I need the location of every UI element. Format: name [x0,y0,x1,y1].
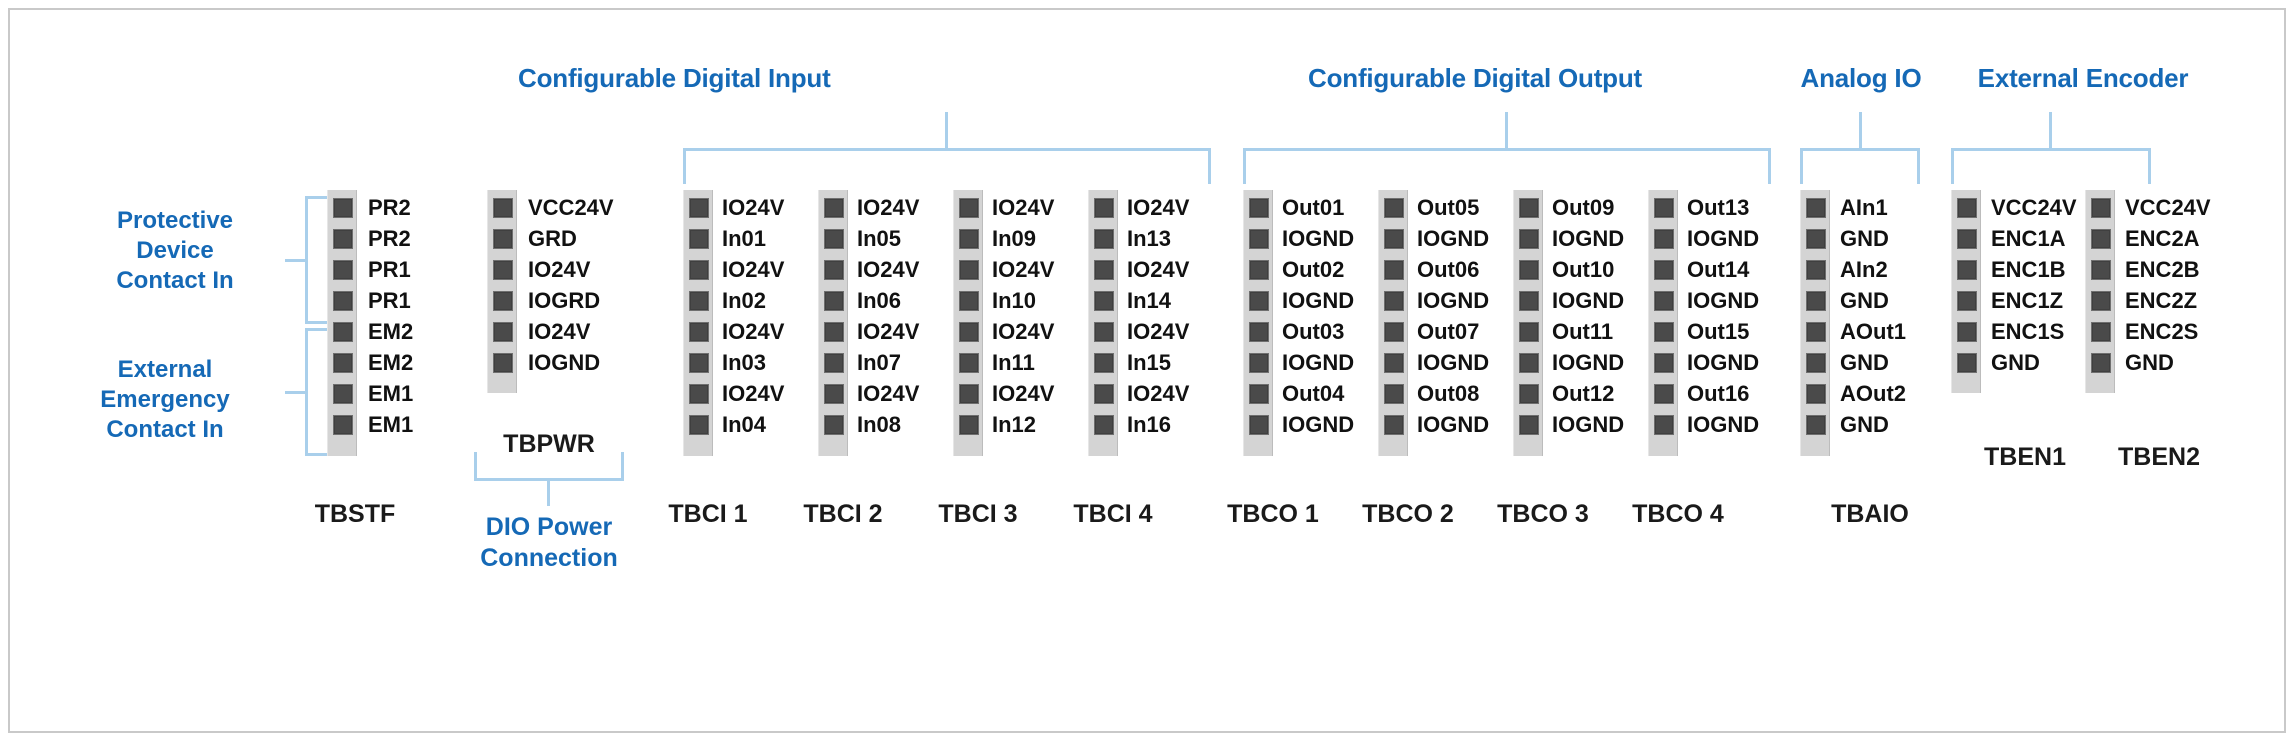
connector-name-TBAIO: TBAIO [1775,500,1965,529]
pinlabels-TBEN1: VCC24V ENC1A ENC1B ENC1Z ENC1S GND [1991,192,2077,378]
pad-square-icon [333,260,353,280]
pin[interactable] [1649,224,1679,255]
pin-label: In10 [992,285,1054,316]
pin[interactable] [1801,348,1831,379]
pin-label: IOGND [1687,409,1759,440]
pad-square-icon [1957,291,1977,311]
pin-label: GND [1840,223,1906,254]
pinlabels-TBCO1: Out01 IOGND Out02 IOGND Out03 IOGND Out0… [1282,192,1354,440]
pin[interactable] [1089,379,1119,410]
pin-label: Out03 [1282,316,1354,347]
pin-label: In13 [1127,223,1189,254]
pin-label: In05 [857,223,919,254]
pinlabels-TBPWR: VCC24V GRD IO24V IOGRD IO24V IOGND [528,192,614,378]
pin[interactable] [1801,317,1831,348]
pin-label: In09 [992,223,1054,254]
pad-square-icon [1094,415,1114,435]
strip-TBCI1[interactable] [683,190,713,456]
pin[interactable] [954,193,984,224]
pad-square-icon [689,384,709,404]
pin[interactable] [1379,224,1409,255]
pad-square-icon [689,322,709,342]
pin[interactable] [1952,286,1982,317]
strip-TBCI3[interactable] [953,190,983,456]
pad-square-icon [1249,384,1269,404]
pin[interactable] [1649,255,1679,286]
pin[interactable] [2086,255,2116,286]
pad-square-icon [824,384,844,404]
pin[interactable] [1514,255,1544,286]
pin[interactable] [684,348,714,379]
pin[interactable] [819,348,849,379]
pin[interactable] [819,255,849,286]
pin[interactable] [1089,224,1119,255]
pad-square-icon [493,229,513,249]
pad-square-icon [1654,291,1674,311]
pin-label: PR2 [368,223,413,254]
pad-square-icon [493,260,513,280]
pad-square-icon [689,229,709,249]
pin-label: Out10 [1552,254,1624,285]
pinlabels-TBAIO: AIn1 GND AIn2 GND AOut1 GND AOut2 GND [1840,192,1906,440]
pad-square-icon [1806,322,1826,342]
pin[interactable] [328,224,358,255]
diagram-canvas: Configurable Digital Input Configurable … [0,0,2296,743]
pin[interactable] [1801,224,1831,255]
pin[interactable] [684,193,714,224]
strip-TBEN2[interactable] [2085,190,2115,393]
pin[interactable] [1379,255,1409,286]
pinlabels-TBCI3: IO24V In09 IO24V In10 IO24V In11 IO24V I… [992,192,1054,440]
pad-square-icon [1519,384,1539,404]
pin-label: IOGND [1282,347,1354,378]
pad-square-icon [1249,198,1269,218]
pin[interactable] [1089,255,1119,286]
pad-square-icon [1249,291,1269,311]
pad-square-icon [2091,322,2111,342]
pad-square-icon [1654,415,1674,435]
pin-label: In16 [1127,409,1189,440]
pad-square-icon [493,198,513,218]
pin[interactable] [1514,379,1544,410]
pin-label: IO24V [992,192,1054,223]
strip-TBAIO[interactable] [1800,190,1830,456]
pin[interactable] [1379,286,1409,317]
pad-square-icon [1094,229,1114,249]
pin-label: Out08 [1417,378,1489,409]
pin-label: IOGND [1552,347,1624,378]
pin[interactable] [1089,317,1119,348]
pad-square-icon [1094,291,1114,311]
pad-square-icon [2091,353,2111,373]
group-title-digital-input: Configurable Digital Input [518,63,798,94]
pin[interactable] [684,379,714,410]
pin[interactable] [1244,286,1274,317]
pin[interactable] [1379,348,1409,379]
strip-TBCO1[interactable] [1243,190,1273,456]
pin[interactable] [819,286,849,317]
pinlabels-TBCI1: IO24V In01 IO24V In02 IO24V In03 IO24V I… [722,192,784,440]
pad-square-icon [1654,384,1674,404]
pin-label: Out12 [1552,378,1624,409]
pin-label: Out02 [1282,254,1354,285]
pad-square-icon [1806,415,1826,435]
pin[interactable] [1379,379,1409,410]
pin[interactable] [1649,410,1679,441]
pin-label: In02 [722,285,784,316]
pin-label: Out04 [1282,378,1354,409]
pin[interactable] [1514,224,1544,255]
pad-square-icon [1519,322,1539,342]
pin[interactable] [328,410,358,441]
pad-square-icon [1249,353,1269,373]
pin[interactable] [488,193,518,224]
pin[interactable] [1514,317,1544,348]
pin[interactable] [1244,255,1274,286]
pin[interactable] [954,317,984,348]
pin[interactable] [2086,224,2116,255]
pin[interactable] [488,317,518,348]
pin-label: IO24V [528,254,614,285]
pin-label: In03 [722,347,784,378]
strip-TBSTF[interactable] [327,190,357,456]
pin-label: In04 [722,409,784,440]
pin-label: ENC2B [2125,254,2211,285]
pin-label: In06 [857,285,919,316]
pin[interactable] [954,224,984,255]
group-title-external-encoder: External Encoder [1958,63,2208,94]
pinlabels-TBEN2: VCC24V ENC2A ENC2B ENC2Z ENC2S GND [2125,192,2211,378]
pad-square-icon [1654,322,1674,342]
pad-square-icon [959,353,979,373]
pin-label: IO24V [992,254,1054,285]
pad-square-icon [2091,291,2111,311]
pinlabels-TBCI4: IO24V In13 IO24V In14 IO24V In15 IO24V I… [1127,192,1189,440]
pad-square-icon [1094,353,1114,373]
pin-label: Out16 [1687,378,1759,409]
pin[interactable] [1089,193,1119,224]
pin-label: IOGND [1417,285,1489,316]
pin-label: IOGND [1417,223,1489,254]
strip-TBCI4[interactable] [1088,190,1118,456]
pin-label: IOGRD [528,285,614,316]
pin[interactable] [2086,193,2116,224]
pad-square-icon [1957,229,1977,249]
pad-square-icon [1806,353,1826,373]
pin-label: IOGND [1687,223,1759,254]
pad-square-icon [1806,198,1826,218]
pin[interactable] [1649,286,1679,317]
pad-square-icon [1957,322,1977,342]
pin-label: IOGND [528,347,614,378]
pin-label: IOGND [1687,285,1759,316]
pad-square-icon [1384,198,1404,218]
pin[interactable] [1379,410,1409,441]
pin-label: IO24V [857,254,919,285]
pin[interactable] [819,317,849,348]
pad-square-icon [959,384,979,404]
pin[interactable] [1379,317,1409,348]
pin-label: EM1 [368,378,413,409]
pin-label: IOGND [1282,223,1354,254]
pad-square-icon [1094,384,1114,404]
pin[interactable] [954,410,984,441]
pad-square-icon [1519,415,1539,435]
pin[interactable] [328,379,358,410]
pin-label: VCC24V [528,192,614,223]
pad-square-icon [2091,229,2111,249]
pin-label: In12 [992,409,1054,440]
pad-square-icon [959,322,979,342]
connector-name-TBPWR: TBPWR [469,430,629,459]
pin[interactable] [1244,410,1274,441]
pin[interactable] [1514,193,1544,224]
strip-TBCO4[interactable] [1648,190,1678,456]
pad-square-icon [1957,198,1977,218]
pin[interactable] [684,317,714,348]
pad-square-icon [959,260,979,280]
pad-square-icon [1519,229,1539,249]
pin[interactable] [1244,193,1274,224]
pad-square-icon [959,291,979,311]
pad-square-icon [1654,260,1674,280]
pin-label: PR2 [368,192,413,223]
pin[interactable] [1649,317,1679,348]
pin[interactable] [328,193,358,224]
pin-label: IO24V [1127,316,1189,347]
pad-square-icon [1094,198,1114,218]
pin[interactable] [684,224,714,255]
group-title-digital-output: Configurable Digital Output [1308,63,1608,94]
pin[interactable] [328,286,358,317]
pad-square-icon [1806,384,1826,404]
pad-square-icon [1094,322,1114,342]
pin-label: EM2 [368,347,413,378]
pad-square-icon [493,322,513,342]
pin[interactable] [1801,286,1831,317]
connector-name-TBSTF: TBSTF [275,500,435,529]
pin-label: ENC2S [2125,316,2211,347]
connector-name-TBEN2: TBEN2 [2064,443,2254,472]
pin-label: ENC1Z [1991,285,2077,316]
pin[interactable] [1089,348,1119,379]
pad-square-icon [1249,229,1269,249]
pin[interactable] [1801,379,1831,410]
pad-square-icon [2091,260,2111,280]
strip-TBCI2[interactable] [818,190,848,456]
pin-label: GND [1840,409,1906,440]
pin-label: In08 [857,409,919,440]
pin[interactable] [1244,224,1274,255]
pin-label: IOGND [1552,285,1624,316]
pin[interactable] [488,255,518,286]
pin-label: AIn2 [1840,254,1906,285]
pin[interactable] [2086,317,2116,348]
pinlabels-TBSTF: PR2 PR2 PR1 PR1 EM2 EM2 EM1 EM1 [368,192,413,440]
pin[interactable] [1952,348,1982,379]
pin[interactable] [1089,286,1119,317]
pin-label: ENC1B [1991,254,2077,285]
pin[interactable] [1801,193,1831,224]
pin-label: IOGND [1282,409,1354,440]
pad-square-icon [1384,353,1404,373]
pin[interactable] [488,348,518,379]
pin-label: PR1 [368,254,413,285]
pin[interactable] [684,286,714,317]
pad-square-icon [333,353,353,373]
pad-square-icon [1384,384,1404,404]
pin[interactable] [488,224,518,255]
group-title-analog-io: Analog IO [1786,63,1936,94]
pin-label: GND [1840,347,1906,378]
pin[interactable] [954,255,984,286]
pad-square-icon [1519,198,1539,218]
connector-name-TBCO4: TBCO 4 [1573,500,1783,529]
pin[interactable] [328,255,358,286]
pad-square-icon [493,353,513,373]
pad-square-icon [333,229,353,249]
pad-square-icon [1384,322,1404,342]
pin-label: Out11 [1552,316,1624,347]
pin-label: IO24V [857,316,919,347]
pin[interactable] [1952,224,1982,255]
pad-square-icon [824,322,844,342]
pad-square-icon [824,260,844,280]
pin[interactable] [488,286,518,317]
pin[interactable] [2086,286,2116,317]
pin-label: IO24V [528,316,614,347]
pin-label: ENC1A [1991,223,2077,254]
pin-label: Out05 [1417,192,1489,223]
pad-square-icon [1519,353,1539,373]
pin[interactable] [819,379,849,410]
pad-square-icon [1249,415,1269,435]
pad-square-icon [1384,260,1404,280]
pin[interactable] [2086,348,2116,379]
pin-label: VCC24V [1991,192,2077,223]
pad-square-icon [333,415,353,435]
pin-label: PR1 [368,285,413,316]
pad-square-icon [689,415,709,435]
pad-square-icon [1249,322,1269,342]
pin[interactable] [684,255,714,286]
pin-label: IO24V [1127,192,1189,223]
pad-square-icon [1094,260,1114,280]
pin[interactable] [954,379,984,410]
pin[interactable] [1649,193,1679,224]
pad-square-icon [1519,260,1539,280]
pin[interactable] [819,224,849,255]
pin[interactable] [1244,317,1274,348]
pad-square-icon [333,291,353,311]
pin[interactable] [1649,379,1679,410]
pin[interactable] [1952,193,1982,224]
pad-square-icon [1654,198,1674,218]
pin-label: Out14 [1687,254,1759,285]
pad-square-icon [824,353,844,373]
pin[interactable] [1801,255,1831,286]
pin-label: IOGND [1282,285,1354,316]
pin-label: IO24V [992,316,1054,347]
pin[interactable] [1379,193,1409,224]
strip-TBEN1[interactable] [1951,190,1981,393]
pin-label: GND [2125,347,2211,378]
strip-TBCO3[interactable] [1513,190,1543,456]
pin-label: Out07 [1417,316,1489,347]
pad-square-icon [493,291,513,311]
pad-square-icon [1806,260,1826,280]
pin-label: GND [1991,347,2077,378]
pin[interactable] [1801,410,1831,441]
pin-label: IO24V [722,192,784,223]
pin-label: IO24V [1127,254,1189,285]
pin[interactable] [954,348,984,379]
pin-label: EM1 [368,409,413,440]
pad-square-icon [1654,353,1674,373]
pad-square-icon [824,198,844,218]
pad-square-icon [333,322,353,342]
pin[interactable] [1089,410,1119,441]
pin[interactable] [328,317,358,348]
pin-label: AIn1 [1840,192,1906,223]
pin-label: IO24V [722,378,784,409]
pin-label: IOGND [1417,409,1489,440]
pad-square-icon [1384,229,1404,249]
strip-TBCO2[interactable] [1378,190,1408,456]
pin-label: ENC2A [2125,223,2211,254]
pinlabels-TBCO3: Out09 IOGND Out10 IOGND Out11 IOGND Out1… [1552,192,1624,440]
pad-square-icon [824,229,844,249]
pad-square-icon [1806,291,1826,311]
pin-label: Out13 [1687,192,1759,223]
pin[interactable] [1952,255,1982,286]
pad-square-icon [1654,229,1674,249]
pin-label: IO24V [857,192,919,223]
pad-square-icon [1384,291,1404,311]
pad-square-icon [1249,260,1269,280]
pin-label: AOut1 [1840,316,1906,347]
pin[interactable] [328,348,358,379]
pin[interactable] [1244,379,1274,410]
pin[interactable] [1514,286,1544,317]
pin-label: In11 [992,347,1054,378]
pin[interactable] [684,410,714,441]
pad-square-icon [824,291,844,311]
pin[interactable] [1952,317,1982,348]
pad-square-icon [1957,353,1977,373]
pinlabels-TBCI2: IO24V In05 IO24V In06 IO24V In07 IO24V I… [857,192,919,440]
pin[interactable] [1649,348,1679,379]
pin[interactable] [819,410,849,441]
pin-label: IO24V [992,378,1054,409]
side-label-external-emergency-contact-in: External Emergency Contact In [55,355,275,445]
pin-label: IOGND [1417,347,1489,378]
pin-label: Out01 [1282,192,1354,223]
pin-label: IOGND [1552,409,1624,440]
pin[interactable] [819,193,849,224]
pin[interactable] [1514,410,1544,441]
pin-label: EM2 [368,316,413,347]
pin[interactable] [1514,348,1544,379]
pad-square-icon [333,198,353,218]
pin-label: ENC2Z [2125,285,2211,316]
pin[interactable] [954,286,984,317]
strip-TBPWR[interactable] [487,190,517,393]
pad-square-icon [333,384,353,404]
pad-square-icon [959,198,979,218]
pin[interactable] [1244,348,1274,379]
pin-label: Out09 [1552,192,1624,223]
